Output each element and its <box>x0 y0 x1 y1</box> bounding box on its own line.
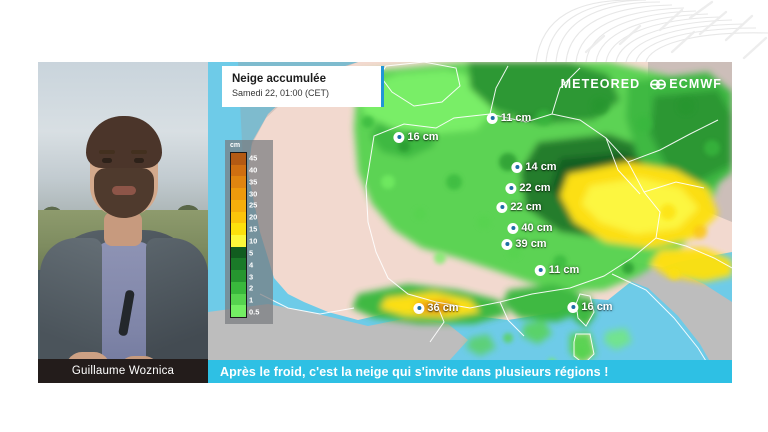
station-marker: 40 cm <box>507 222 552 234</box>
station-dot-icon <box>413 303 424 314</box>
weather-map[interactable]: Neige accumulée Samedi 22, 01:00 (CET) c… <box>208 62 732 383</box>
station-dot-icon <box>487 113 498 124</box>
station-marker: 14 cm <box>511 161 556 173</box>
station-value-label: 14 cm <box>525 161 556 173</box>
legend-swatch <box>231 305 246 317</box>
station-dot-icon <box>567 302 578 313</box>
legend-tick: 2 <box>249 284 253 293</box>
meteored-logo: METEORED <box>561 77 641 91</box>
legend-swatch <box>231 258 246 270</box>
station-dot-icon <box>505 183 516 194</box>
legend-tick: 10 <box>249 236 257 245</box>
station-value-label: 39 cm <box>515 238 546 250</box>
station-dot-icon <box>511 162 522 173</box>
legend-unit-label: cm <box>230 142 240 149</box>
legend-swatch <box>231 247 246 259</box>
station-dot-icon <box>535 265 546 276</box>
legend-tick: 30 <box>249 189 257 198</box>
station-dot-icon <box>496 202 507 213</box>
presenter-mouth <box>112 186 136 195</box>
presenter-eye-left <box>102 158 112 163</box>
station-value-label: 40 cm <box>521 222 552 234</box>
legend-tick: 3 <box>249 272 253 281</box>
legend-swatch <box>231 176 246 188</box>
legend-swatch <box>231 165 246 177</box>
legend-tick: 40 <box>249 165 257 174</box>
station-marker: 16 cm <box>567 301 612 313</box>
presenter-eye-right <box>134 158 144 163</box>
map-title-card: Neige accumulée Samedi 22, 01:00 (CET) <box>222 66 384 107</box>
station-dot-icon <box>507 223 518 234</box>
presenter-name-label: Guillaume Woznica <box>72 365 174 377</box>
station-value-label: 36 cm <box>427 302 458 314</box>
station-marker: 11 cm <box>535 264 580 276</box>
ecmwf-mark-icon <box>650 79 666 90</box>
legend-tick-labels: 4540353025201510543210.5 <box>249 152 273 318</box>
station-marker: 39 cm <box>501 238 546 250</box>
station-value-label: 16 cm <box>407 131 438 143</box>
legend-swatch <box>231 212 246 224</box>
station-value-label: 22 cm <box>519 182 550 194</box>
legend-tick: 25 <box>249 201 257 210</box>
station-marker: 22 cm <box>505 182 550 194</box>
broadcast-stage: Guillaume Woznica <box>0 62 768 383</box>
station-value-label: 16 cm <box>581 301 612 313</box>
station-value-label: 11 cm <box>501 112 532 124</box>
presenter-brow-left <box>99 150 115 154</box>
station-marker: 22 cm <box>496 201 541 213</box>
legend-tick: 35 <box>249 177 257 186</box>
presenter-video[interactable] <box>38 62 208 383</box>
legend[interactable]: cm 4540353025201510543210.5 <box>225 140 273 324</box>
station-value-label: 22 cm <box>510 201 541 213</box>
legend-tick: 5 <box>249 248 253 257</box>
legend-swatch <box>231 294 246 306</box>
presenter-name-tag: Guillaume Woznica <box>38 359 208 383</box>
legend-swatch <box>231 153 246 165</box>
legend-swatch <box>231 200 246 212</box>
legend-swatch <box>231 223 246 235</box>
map-subtitle: Samedi 22, 01:00 (CET) <box>232 87 373 100</box>
legend-tick: 45 <box>249 153 257 162</box>
legend-swatch <box>231 235 246 247</box>
legend-tick: 20 <box>249 213 257 222</box>
brand-logos: METEORED ECMWF <box>561 77 722 91</box>
station-dot-icon <box>501 239 512 250</box>
station-value-label: 11 cm <box>549 264 580 276</box>
banner-text: Après le froid, c'est la neige qui s'inv… <box>220 365 609 379</box>
ecmwf-logo: ECMWF <box>650 77 722 91</box>
station-marker: 16 cm <box>393 131 438 143</box>
station-dot-icon <box>393 132 404 143</box>
map-title: Neige accumulée <box>232 72 373 86</box>
legend-color-bar <box>230 152 247 318</box>
legend-swatch <box>231 270 246 282</box>
map-borders-layer <box>208 62 732 383</box>
station-marker: 36 cm <box>413 302 458 314</box>
ecmwf-label: ECMWF <box>669 77 722 91</box>
presenter-brow-right <box>131 150 147 154</box>
legend-tick: 0.5 <box>249 308 259 317</box>
station-marker: 11 cm <box>487 112 532 124</box>
legend-swatch <box>231 282 246 294</box>
legend-swatch <box>231 188 246 200</box>
news-ticker-banner: Après le froid, c'est la neige qui s'inv… <box>208 360 732 383</box>
legend-tick: 1 <box>249 296 253 305</box>
legend-tick: 15 <box>249 225 257 234</box>
legend-tick: 4 <box>249 260 253 269</box>
